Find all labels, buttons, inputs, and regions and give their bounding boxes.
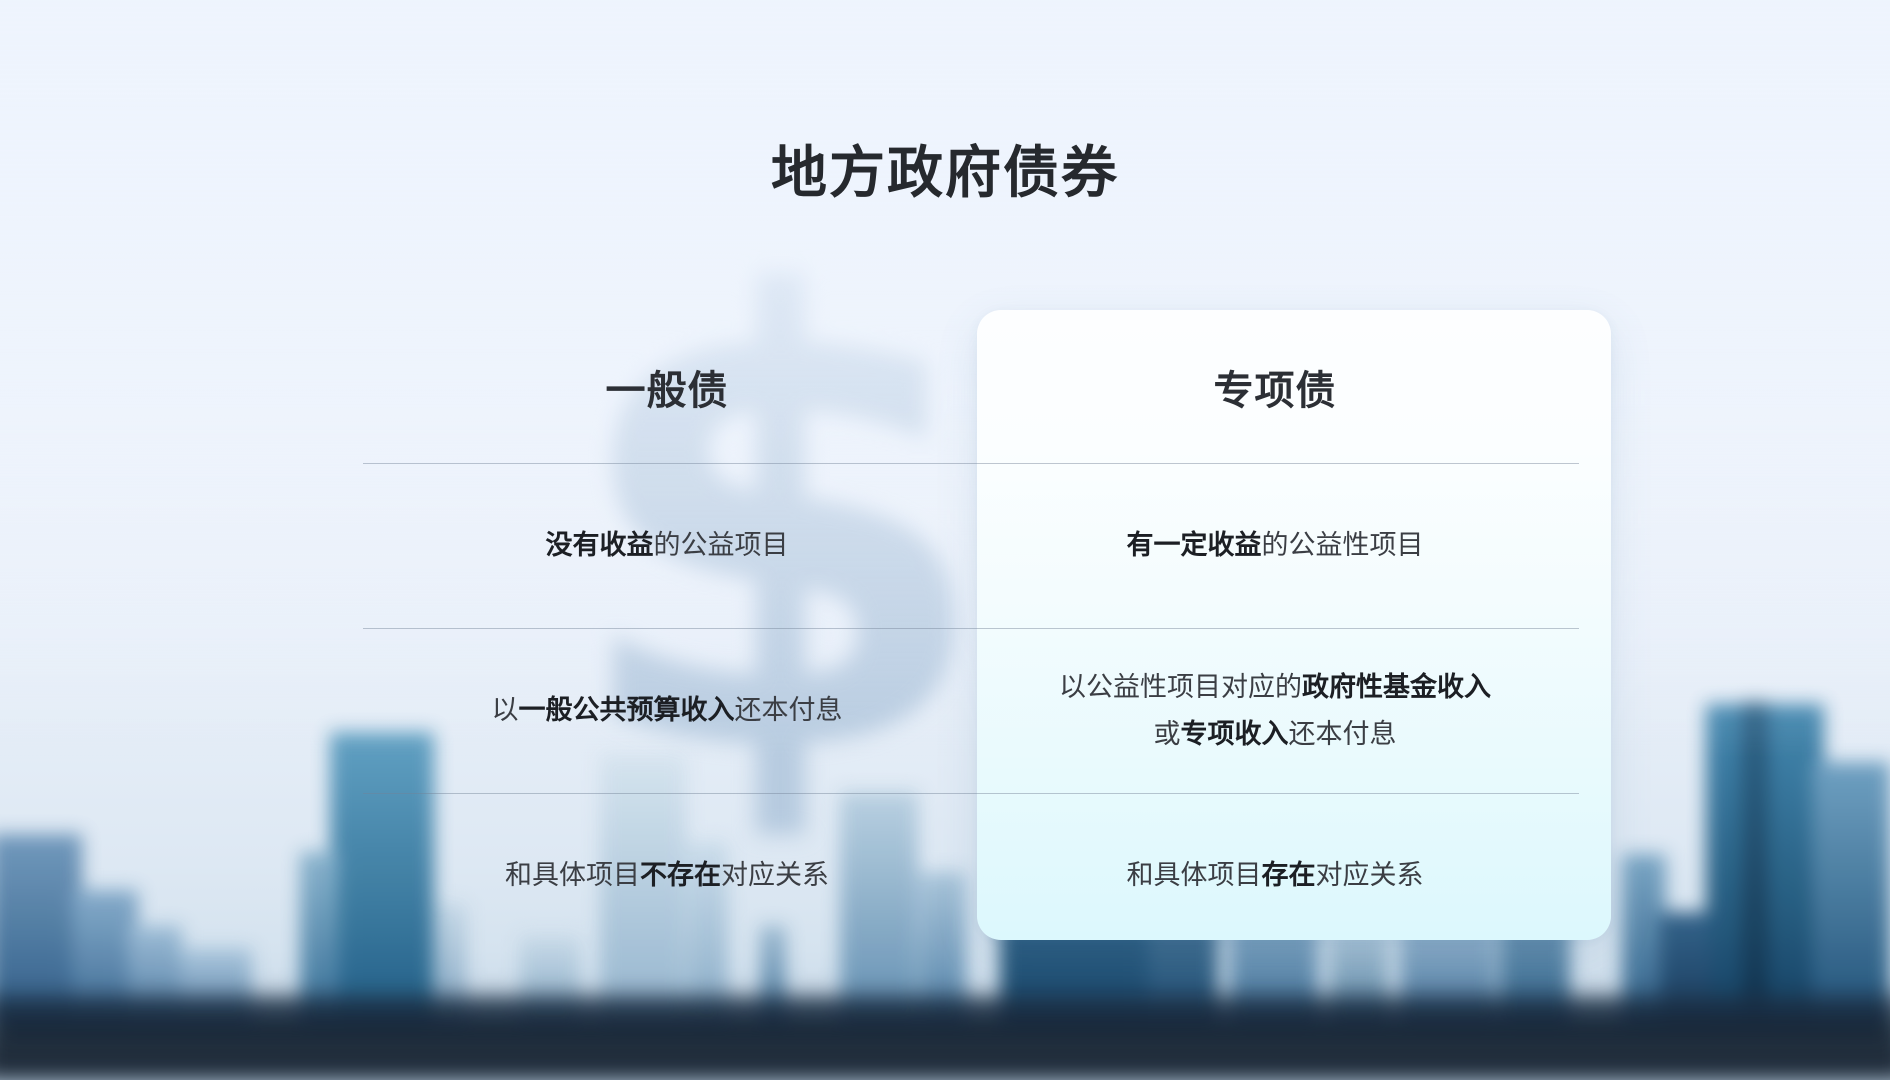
column-header-general: 一般债 — [363, 310, 971, 463]
cell-general-project-correspondence-text: 和具体项目不存在对应关系 — [505, 852, 829, 899]
cell-general-repayment-source-text: 以一般公共预算收入还本付息 — [492, 687, 843, 734]
cell-general-project-type: 没有收益的公益项目 — [363, 464, 971, 628]
cell-special-project-type-text: 有一定收益的公益性项目 — [1127, 522, 1424, 569]
cell-general-project-type-text: 没有收益的公益项目 — [546, 522, 789, 569]
table-row-repayment-source: 以一般公共预算收入还本付息 以公益性项目对应的政府性基金收入 或专项收入还本付息 — [363, 629, 1579, 793]
cell-general-project-correspondence: 和具体项目不存在对应关系 — [363, 794, 971, 958]
column-header-special: 专项债 — [971, 310, 1579, 463]
cell-special-project-correspondence-text: 和具体项目存在对应关系 — [1127, 852, 1424, 899]
column-header-general-label: 一般债 — [606, 358, 729, 416]
column-header-special-label: 专项债 — [1214, 358, 1337, 416]
cell-special-project-correspondence: 和具体项目存在对应关系 — [971, 794, 1579, 958]
cell-special-project-type: 有一定收益的公益性项目 — [971, 464, 1579, 628]
cell-special-repayment-source-line1: 以公益性项目对应的政府性基金收入 — [1059, 672, 1491, 702]
infographic-stage: 地方政府债券 一般债 专项债 没有收益的公益项目 有一定收益的公益性项目 — [0, 0, 1890, 1080]
table-row-project-correspondence: 和具体项目不存在对应关系 和具体项目存在对应关系 — [363, 794, 1579, 958]
cell-special-repayment-source-line2: 或专项收入还本付息 — [1154, 719, 1397, 749]
comparison-table: 一般债 专项债 没有收益的公益项目 有一定收益的公益性项目 以一般公共预算收入还… — [363, 310, 1579, 958]
page-title: 地方政府债券 — [0, 128, 1890, 209]
cell-general-repayment-source: 以一般公共预算收入还本付息 — [363, 629, 971, 793]
cell-special-repayment-source: 以公益性项目对应的政府性基金收入 或专项收入还本付息 — [971, 629, 1579, 793]
table-row-project-type: 没有收益的公益项目 有一定收益的公益性项目 — [363, 464, 1579, 628]
table-header-row: 一般债 专项债 — [363, 310, 1579, 463]
